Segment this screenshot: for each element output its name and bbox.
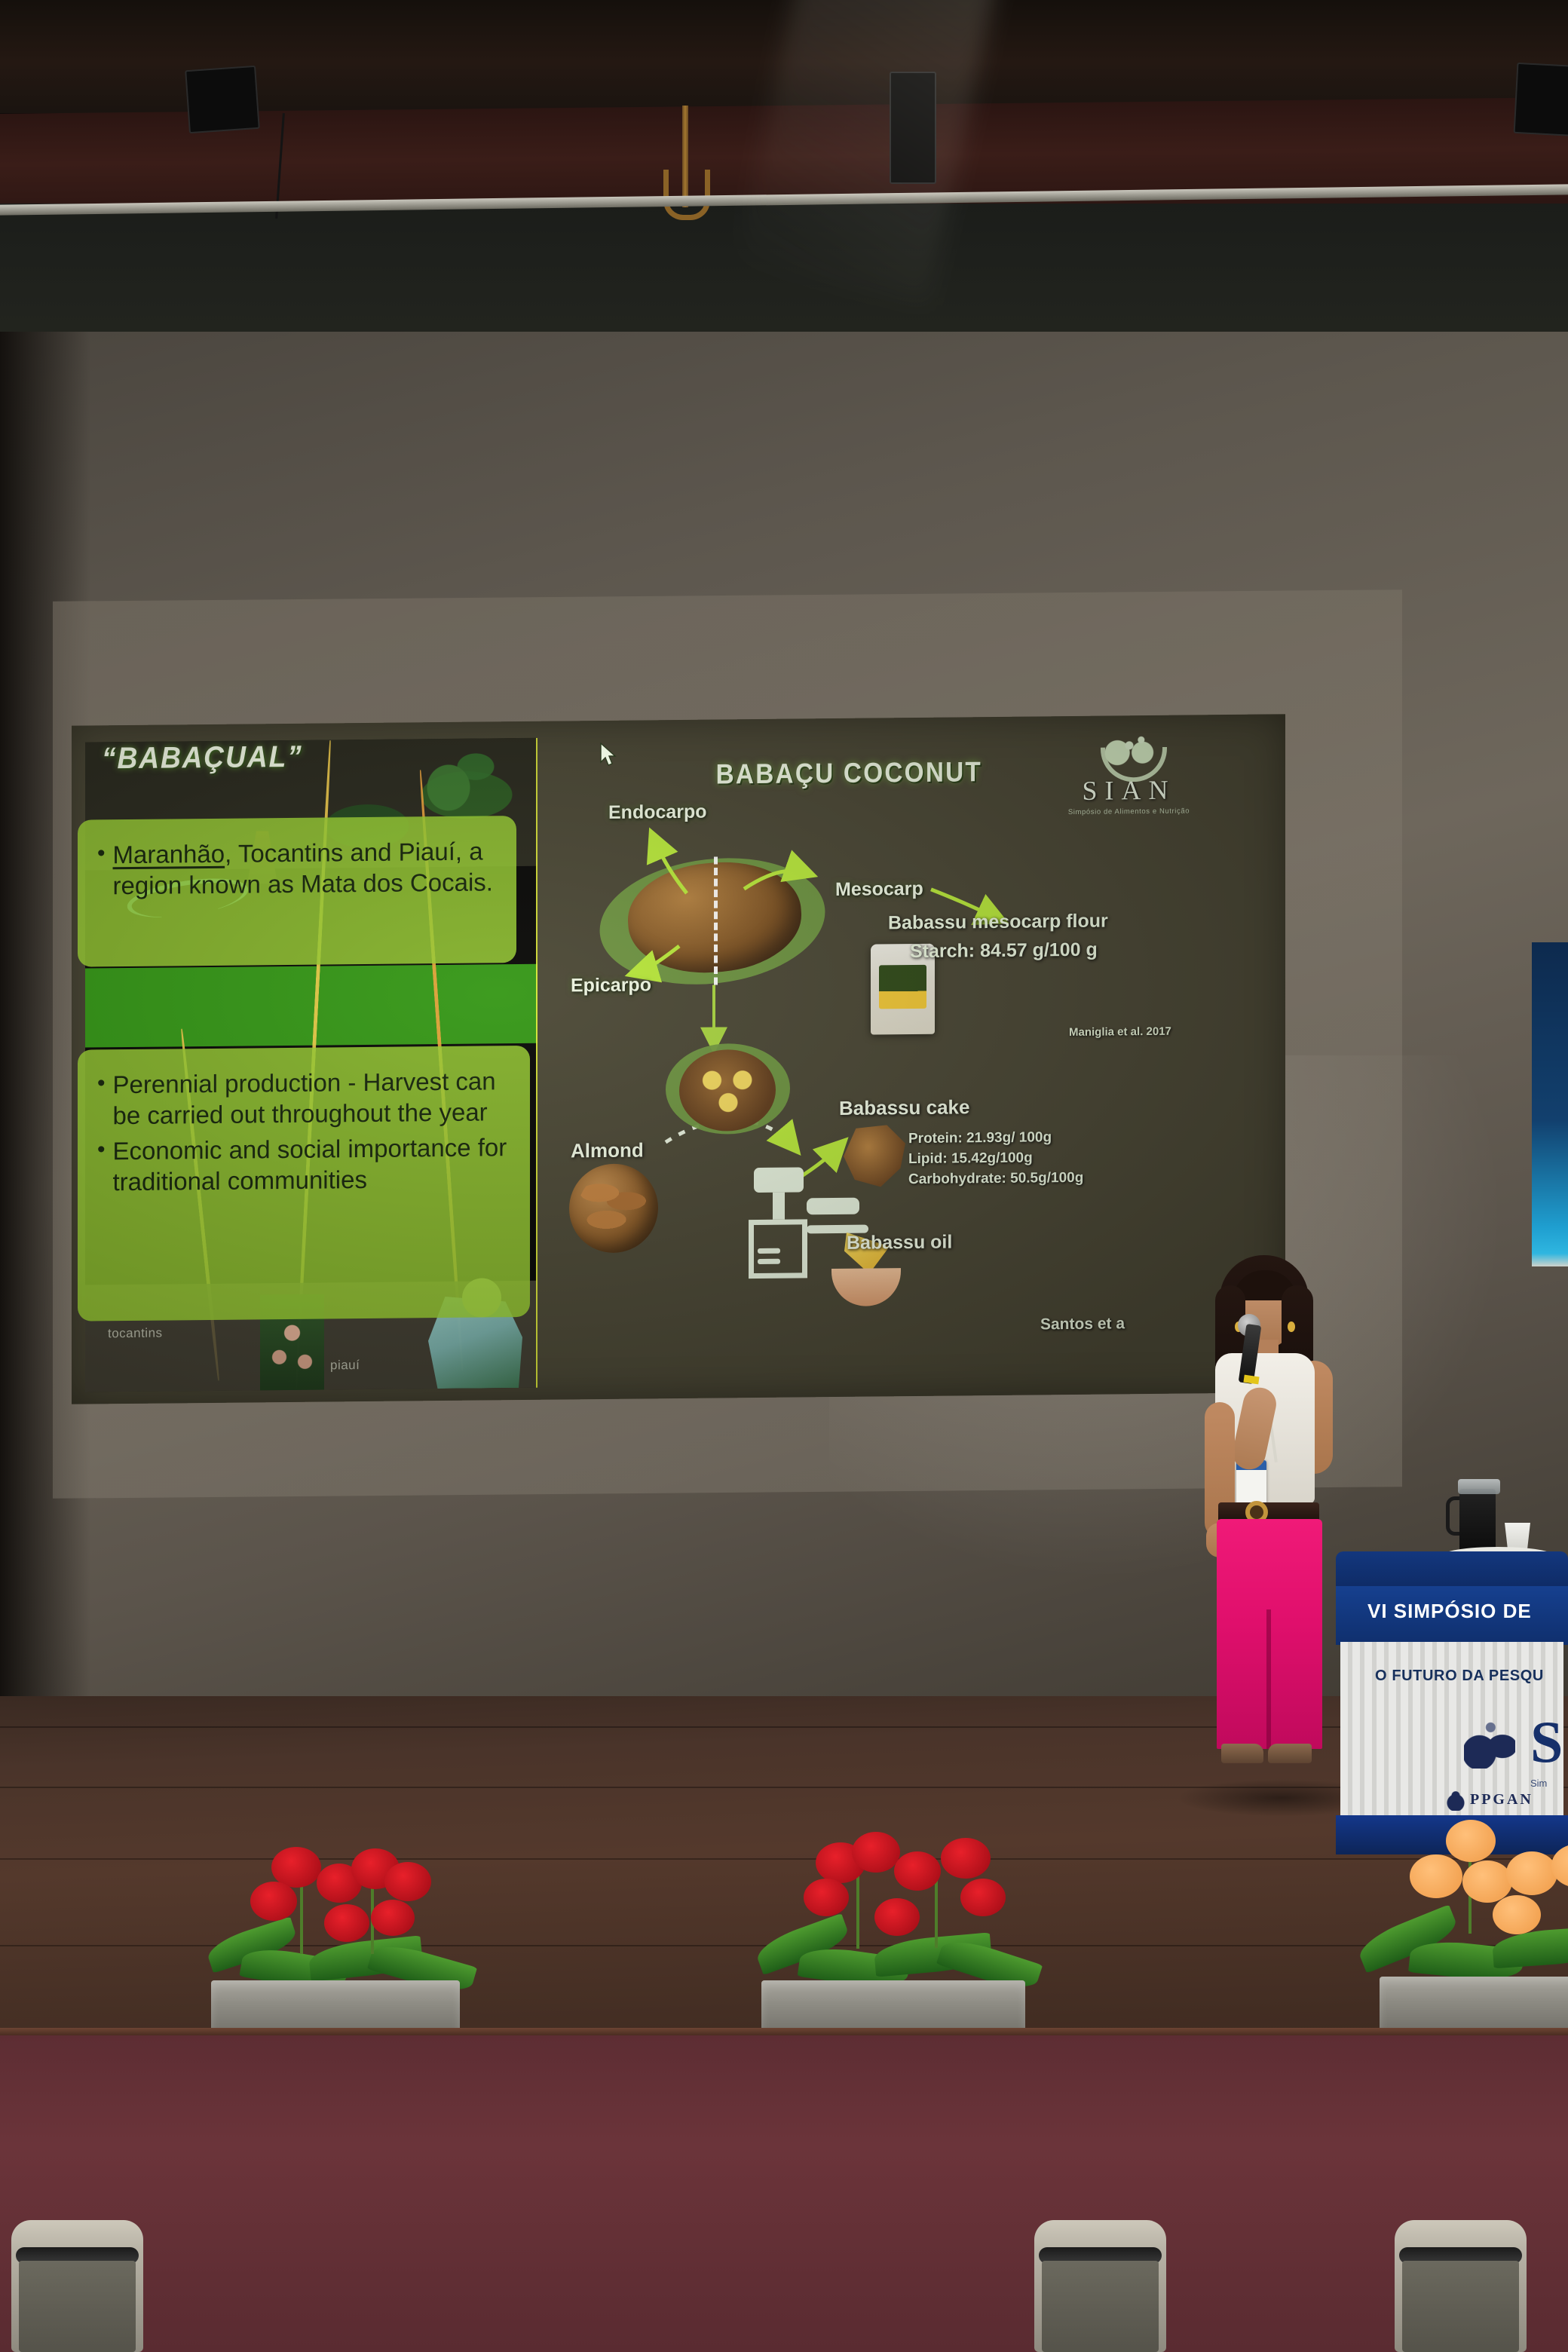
bullet-text: Economic and social importance for tradi… xyxy=(113,1132,507,1197)
sian-sub-text: Sim xyxy=(1530,1778,1547,1789)
label-epicarpo: Epicarpo xyxy=(571,974,651,997)
flower-bloom-red xyxy=(874,1898,920,1936)
slide-title: “BABAÇUAL” xyxy=(102,740,303,776)
flour-title: Babassu mesocarp flour xyxy=(888,911,1108,935)
label-babassu-oil: Babassu oil xyxy=(847,1232,952,1254)
thermos-carafe xyxy=(1459,1489,1496,1554)
slide-plant-decoration xyxy=(412,729,503,813)
stage-front-wall xyxy=(0,2035,1568,2352)
highlighted-state: Maranhão xyxy=(113,840,225,868)
cake-protein-stat: Protein: 21.93g/ 100g xyxy=(908,1129,1052,1147)
label-mesocarp: Mesocarp xyxy=(835,878,923,901)
flour-citation: Maniglia et al. 2017 xyxy=(1069,1025,1171,1039)
flower-bloom-red xyxy=(852,1832,900,1873)
bullet-dot-icon: • xyxy=(97,1069,106,1098)
table-banner-title: VI SIMPÓSIO DE xyxy=(1367,1600,1532,1623)
planter-left xyxy=(211,1839,460,2039)
text-box-production: • Perennial production - Harvest can be … xyxy=(78,1046,530,1321)
flower-stem xyxy=(856,1870,859,1949)
sian-plant-mark-icon xyxy=(1464,1716,1515,1769)
map-label-piaui: piauí xyxy=(330,1358,360,1373)
flower-bloom-red xyxy=(371,1900,415,1936)
audience-chair[interactable] xyxy=(1034,2220,1166,2352)
map-green-band xyxy=(85,964,537,1048)
thermos-lid xyxy=(1458,1479,1500,1494)
presenter-shoe xyxy=(1268,1744,1312,1763)
press-level-line xyxy=(758,1248,780,1254)
chair-seat xyxy=(1042,2261,1159,2352)
fern-leaf xyxy=(1492,1926,1568,1969)
auditorium-room: tocantins piauí “BABAÇUAL” • Maranhão, T… xyxy=(0,0,1568,2352)
flower-bloom-orange xyxy=(1446,1820,1496,1862)
ppgan-logo-text: PPGAN xyxy=(1470,1791,1533,1808)
planter-center xyxy=(761,1832,1025,2039)
press-stem xyxy=(773,1193,785,1220)
flower-bloom-red xyxy=(250,1882,297,1921)
audience-chair[interactable] xyxy=(11,2220,143,2352)
sian-big-letter: S xyxy=(1530,1708,1563,1776)
bullet-dot-icon: • xyxy=(97,839,106,868)
flower-bloom-orange xyxy=(1462,1860,1512,1903)
bullet-text: Perennial production - Harvest can be ca… xyxy=(113,1065,507,1131)
press-arm xyxy=(807,1198,859,1215)
stage-light-right xyxy=(1514,63,1568,136)
flower-bloom-orange xyxy=(1506,1851,1557,1895)
flour-package-label xyxy=(879,965,926,1009)
flower-bloom-red xyxy=(960,1879,1006,1916)
presenter-shoe xyxy=(1221,1744,1263,1763)
ppgan-logo-icon xyxy=(1446,1791,1465,1811)
flower-bloom-red xyxy=(894,1851,941,1891)
trouser-seam xyxy=(1266,1609,1271,1749)
planter-right xyxy=(1380,1817,1568,2035)
almond-seeds-detail xyxy=(578,1172,649,1244)
flower-bloom-red xyxy=(324,1904,369,1942)
flower-bloom-red xyxy=(941,1838,991,1879)
blue-poster-right xyxy=(1532,942,1568,1266)
press-machine-icon xyxy=(754,1167,804,1193)
chair-seat xyxy=(1402,2261,1519,2352)
label-endocarpo: Endocarpo xyxy=(608,801,707,824)
earring-icon xyxy=(1288,1321,1295,1332)
map-accent-edge xyxy=(536,738,537,1390)
chair-seat xyxy=(19,2261,136,2352)
bullet-item: • Maranhão, Tocantins and Piauí, a regio… xyxy=(97,835,494,901)
diagram-citation: Santos et a xyxy=(1040,1315,1125,1334)
mouse-pointer-icon xyxy=(599,743,619,768)
coconut-kernels xyxy=(696,1067,761,1118)
planter-box xyxy=(1380,1977,1568,2035)
bullet-item: • Perennial production - Harvest can be … xyxy=(97,1065,507,1131)
flour-starch-stat: Starch: 84.57 g/100 g xyxy=(910,939,1098,963)
bullet-dot-icon: • xyxy=(97,1135,106,1164)
label-almond: Almond xyxy=(571,1138,644,1162)
table-banner-subtitle: O FUTURO DA PESQU xyxy=(1375,1668,1544,1685)
bullet-item: • Economic and social importance for tra… xyxy=(97,1132,507,1197)
label-babassu-cake: Babassu cake xyxy=(839,1095,969,1120)
audience-chair[interactable] xyxy=(1395,2220,1527,2352)
flower-stem xyxy=(300,1879,303,1954)
babassu-coconut-diagram: BABAÇU COCONUT SIAN Simpósio de Alimento… xyxy=(539,714,1285,1400)
event-table: VI SIMPÓSIO DE O FUTURO DA PESQU S Sim P… xyxy=(1336,1551,1568,1853)
stage-light-left xyxy=(185,66,260,133)
presenter-person xyxy=(1199,1255,1349,1813)
bullet-text: Maranhão, Tocantins and Piauí, a region … xyxy=(113,835,494,901)
text-box-region: • Maranhão, Tocantins and Piauí, a regio… xyxy=(78,816,516,967)
flower-bloom-orange xyxy=(1410,1854,1462,1898)
press-level-line xyxy=(758,1259,780,1264)
flower-bloom-orange xyxy=(1493,1895,1541,1934)
presentation-slide[interactable]: tocantins piauí “BABAÇUAL” • Maranhão, T… xyxy=(72,714,1285,1404)
cake-lipid-stat: Lipid: 15.42g/100g xyxy=(908,1150,1033,1168)
flower-bloom-red xyxy=(384,1862,431,1901)
cake-carbohydrate-stat: Carbohydrate: 50.5g/100g xyxy=(908,1170,1083,1188)
map-label-tocantins: tocantins xyxy=(108,1326,163,1342)
flower-bloom-red xyxy=(804,1879,849,1916)
